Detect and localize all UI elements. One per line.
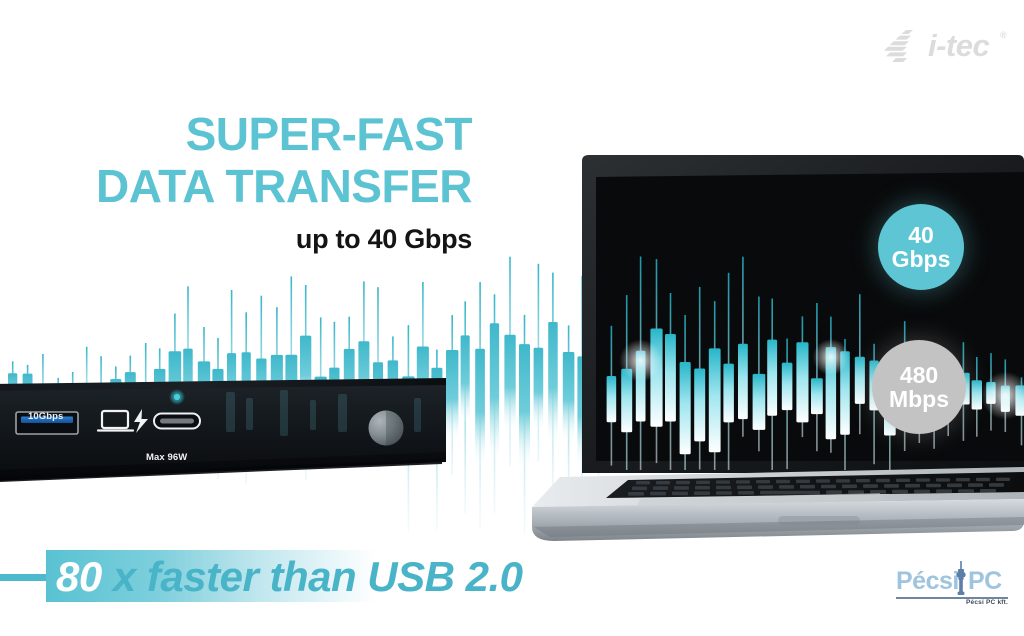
brand-trademark: ® bbox=[1000, 30, 1007, 40]
tagline-text: 80 x faster than USB 2.0 bbox=[56, 551, 523, 603]
promo-banner: 10Gbps Max 96W bbox=[0, 0, 1024, 636]
partner-word-left: Pécsi bbox=[896, 567, 959, 595]
headline-block: SUPER-FAST DATA TRANSFER up to 40 Gbps bbox=[0, 108, 472, 255]
partner-logo: Pécsi PC Pécsi PC kft. bbox=[896, 565, 1008, 623]
tagline-rest: x faster than USB 2.0 bbox=[102, 553, 523, 600]
power-delivery-label: Max 96W bbox=[146, 452, 187, 463]
partner-subtitle: Pécsi PC kft. bbox=[896, 599, 1008, 606]
usb-c-port-icon bbox=[154, 414, 200, 429]
badge-unit: Mbps bbox=[889, 387, 949, 411]
tagline-number: 80 bbox=[56, 553, 102, 600]
usb-a-speed-label: 10Gbps bbox=[28, 411, 63, 422]
tv-tower-icon bbox=[953, 561, 969, 601]
brand-wordmark: i-tec bbox=[928, 26, 989, 66]
partner-word-right: PC bbox=[968, 567, 1002, 595]
status-badge-40gbps: 40 Gbps bbox=[878, 204, 964, 290]
badge-unit: Gbps bbox=[892, 247, 951, 271]
headline-line-1: SUPER-FAST bbox=[0, 108, 472, 160]
headline-line-2: DATA TRANSFER bbox=[0, 160, 472, 212]
subheadline: up to 40 Gbps bbox=[0, 224, 472, 255]
tagline-dash bbox=[0, 574, 50, 581]
docking-station bbox=[0, 378, 446, 488]
badge-value: 480 bbox=[900, 363, 938, 387]
tagline: 80 x faster than USB 2.0 bbox=[0, 550, 640, 606]
itec-chevron-logo-icon bbox=[884, 30, 930, 64]
brand-logo: i-tec ® bbox=[884, 24, 1004, 68]
status-led-icon bbox=[169, 389, 185, 405]
badge-value: 40 bbox=[908, 223, 934, 247]
status-badge-480mbps: 480 Mbps bbox=[872, 340, 966, 434]
